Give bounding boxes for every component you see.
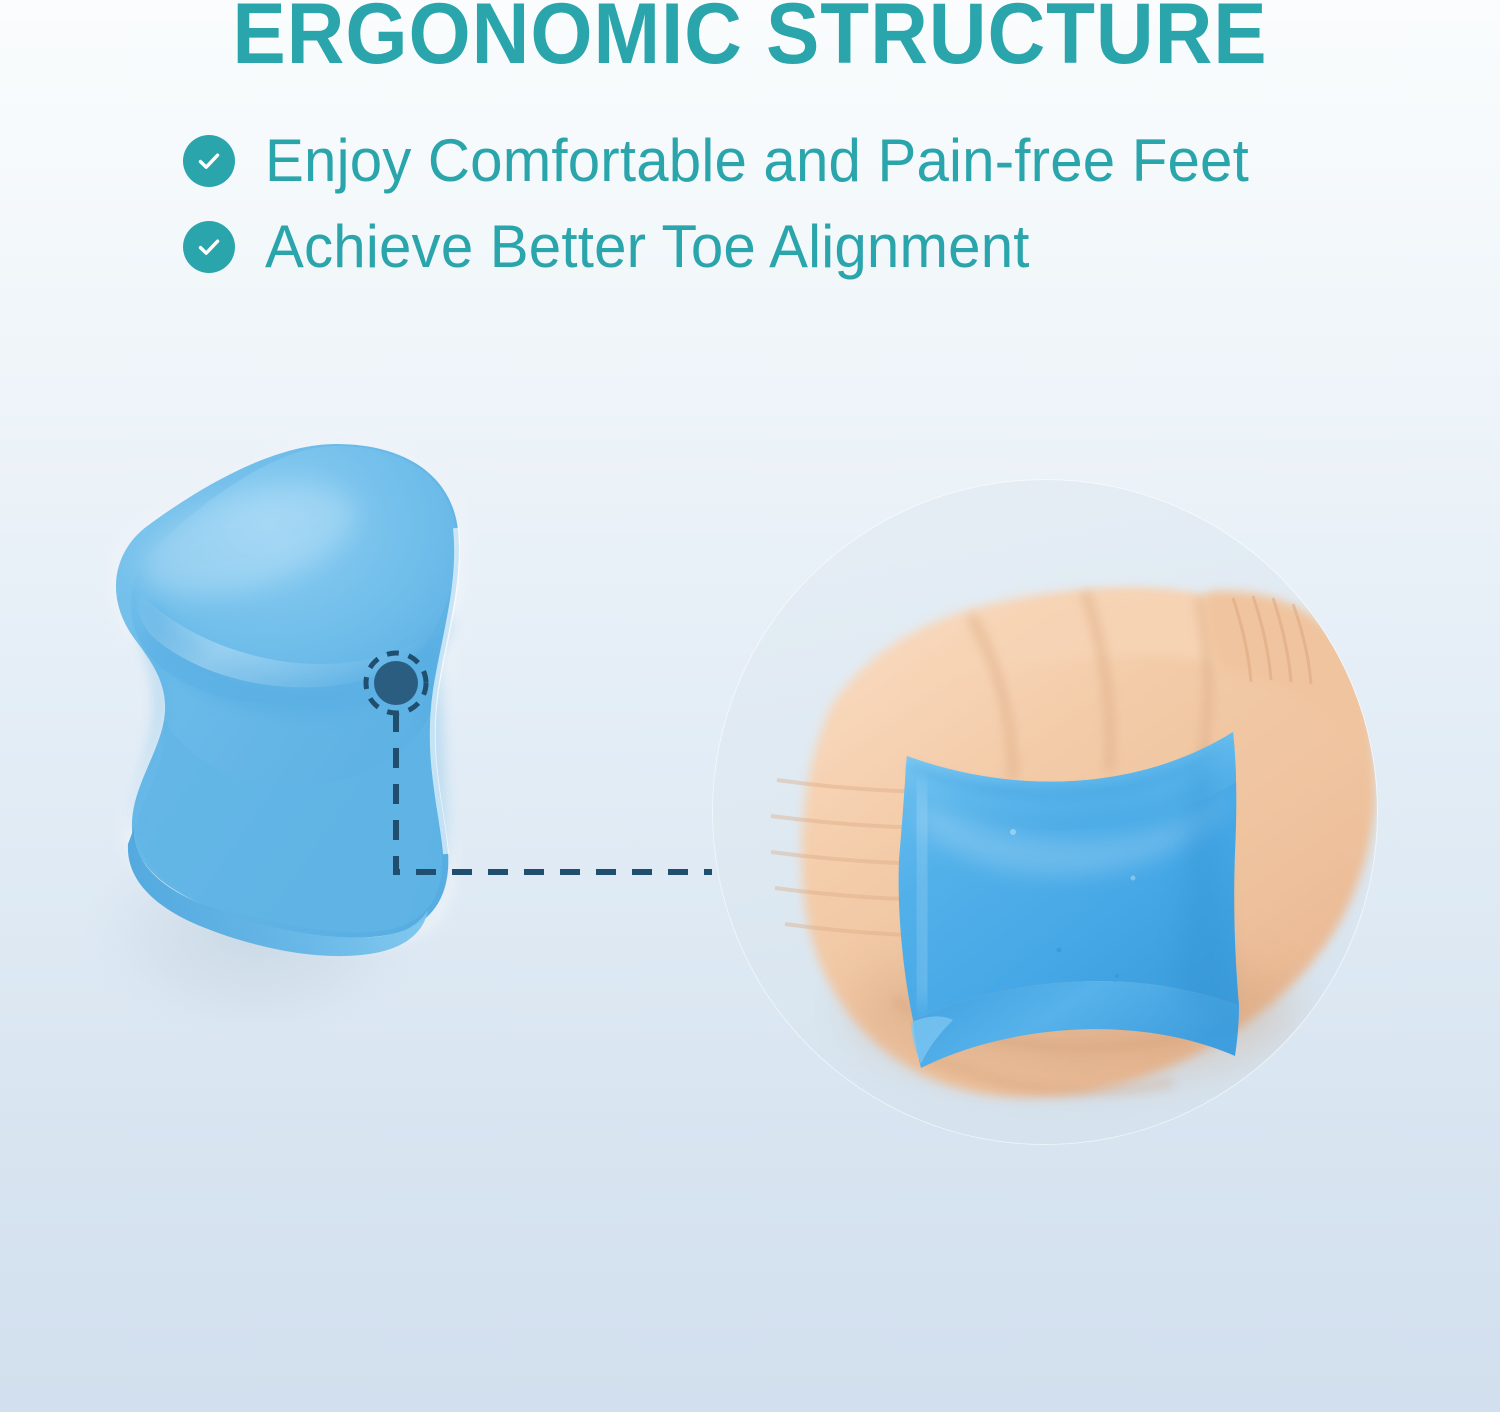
benefit-label: Achieve Better Toe Alignment (265, 214, 1030, 280)
page-title: ERGONOMIC STRUCTURE (53, 0, 1448, 82)
product-render (40, 420, 540, 1140)
benefit-label: Enjoy Comfortable and Pain-free Feet (265, 128, 1249, 194)
list-item: Enjoy Comfortable and Pain-free Feet (183, 126, 1383, 196)
benefits-list: Enjoy Comfortable and Pain-free Feet Ach… (183, 126, 1383, 298)
list-item: Achieve Better Toe Alignment (183, 212, 1383, 282)
check-circle-icon (183, 221, 235, 273)
product-feature-banner: ERGONOMIC STRUCTURE Enjoy Comfortable an… (0, 0, 1500, 1412)
hand-holding-product-photo (713, 480, 1377, 1144)
check-circle-icon (183, 135, 235, 187)
